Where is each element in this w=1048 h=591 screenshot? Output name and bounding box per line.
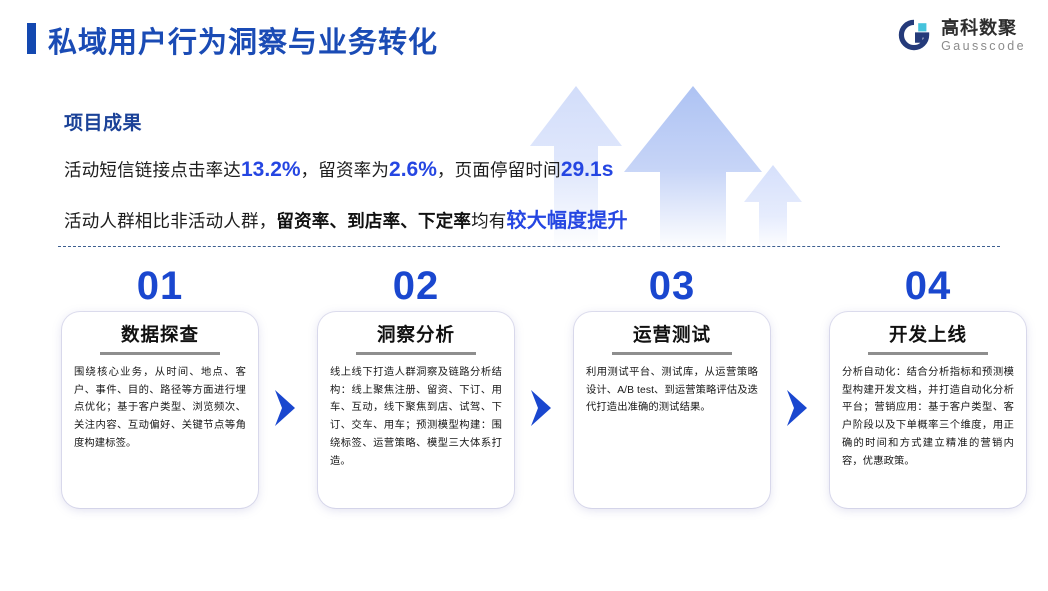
title-accent-bar bbox=[27, 23, 36, 54]
results-line2-seg2: 均有 bbox=[471, 211, 506, 231]
chevron-right-icon-1 bbox=[272, 388, 298, 428]
step-card-02[interactable]: 02 洞察分析 线上线下打造人群洞察及链路分析结构：线上聚焦注册、留资、下订、用… bbox=[318, 268, 514, 518]
slide-canvas: 私域用户行为洞察与业务转化 高科数聚 Gausscode 项目成果 活动短信链接… bbox=[0, 0, 1048, 591]
section-divider bbox=[58, 246, 1000, 247]
logo-text-en: Gausscode bbox=[941, 40, 1026, 53]
metric-click-rate: 13.2% bbox=[241, 158, 301, 181]
step-card-01[interactable]: 01 数据探查 围绕核心业务，从时间、地点、客户、事件、目的、路径等方面进行埋点… bbox=[62, 268, 258, 518]
step-card-surface: 数据探查 围绕核心业务，从时间、地点、客户、事件、目的、路径等方面进行埋点优化；… bbox=[62, 312, 258, 508]
results-heading: 项目成果 bbox=[64, 108, 764, 135]
step-body: 分析自动化：结合分析指标和预测模型构建开发文档，并打造自动化分析平台；营销应用：… bbox=[842, 364, 1014, 470]
chevron-right-icon-2 bbox=[528, 388, 554, 428]
step-body: 围绕核心业务，从时间、地点、客户、事件、目的、路径等方面进行埋点优化；基于客户类… bbox=[74, 364, 246, 453]
step-number: 04 bbox=[830, 266, 1026, 306]
step-title-rule bbox=[100, 352, 220, 355]
step-body: 利用测试平台、测试库，从运营策略设计、A/B test、到运营策略评估及迭代打造… bbox=[586, 364, 758, 417]
step-card-03[interactable]: 03 运营测试 利用测试平台、测试库，从运营策略设计、A/B test、到运营策… bbox=[574, 268, 770, 518]
results-line2-bold: 留资率、到店率、下定率 bbox=[276, 211, 471, 231]
step-title-rule bbox=[356, 352, 476, 355]
step-title: 洞察分析 bbox=[318, 321, 514, 347]
project-results-block: 项目成果 活动短信链接点击率达13.2%，留资率为2.6%，页面停留时间29.1… bbox=[64, 108, 764, 233]
step-card-surface: 开发上线 分析自动化：结合分析指标和预测模型构建开发文档，并打造自动化分析平台；… bbox=[830, 312, 1026, 508]
step-number: 02 bbox=[318, 266, 514, 306]
step-card-surface: 运营测试 利用测试平台、测试库，从运营策略设计、A/B test、到运营策略评估… bbox=[574, 312, 770, 508]
results-line1-seg3: ，页面停留时间 bbox=[437, 160, 561, 180]
results-line1-seg1: 活动短信链接点击率达 bbox=[64, 160, 241, 180]
step-body: 线上线下打造人群洞察及链路分析结构：线上聚焦注册、留资、下订、用车、互动，线下聚… bbox=[330, 364, 502, 470]
step-title: 开发上线 bbox=[830, 321, 1026, 347]
results-line2-seg1: 活动人群相比非活动人群， bbox=[64, 211, 276, 231]
results-line-1: 活动短信链接点击率达13.2%，留资率为2.6%，页面停留时间29.1s bbox=[64, 157, 764, 182]
step-number: 03 bbox=[574, 266, 770, 306]
results-line-2: 活动人群相比非活动人群，留资率、到店率、下定率均有较大幅度提升 bbox=[64, 204, 764, 233]
metric-dwell-time: 29.1s bbox=[561, 158, 614, 181]
step-number: 01 bbox=[62, 266, 258, 306]
results-line2-highlight: 较大幅度提升 bbox=[507, 210, 628, 232]
step-card-04[interactable]: 04 开发上线 分析自动化：结合分析指标和预测模型构建开发文档，并打造自动化分析… bbox=[830, 268, 1026, 518]
step-title-rule bbox=[868, 352, 988, 355]
page-title: 私域用户行为洞察与业务转化 bbox=[48, 19, 438, 61]
step-title-rule bbox=[612, 352, 732, 355]
step-title: 运营测试 bbox=[574, 321, 770, 347]
process-steps: 01 数据探查 围绕核心业务，从时间、地点、客户、事件、目的、路径等方面进行埋点… bbox=[0, 268, 1048, 518]
slide-header: 私域用户行为洞察与业务转化 高科数聚 Gausscode bbox=[0, 0, 1048, 76]
step-card-surface: 洞察分析 线上线下打造人群洞察及链路分析结构：线上聚焦注册、留资、下订、用车、互… bbox=[318, 312, 514, 508]
brand-logo: 高科数聚 Gausscode bbox=[898, 19, 1026, 53]
logo-text-cn: 高科数聚 bbox=[941, 19, 1026, 37]
metric-lead-rate: 2.6% bbox=[389, 158, 437, 181]
step-title: 数据探查 bbox=[62, 321, 258, 347]
chevron-right-icon-3 bbox=[784, 388, 810, 428]
results-line1-seg2: ，留资率为 bbox=[301, 160, 390, 180]
gausscode-logo-icon bbox=[898, 19, 932, 53]
